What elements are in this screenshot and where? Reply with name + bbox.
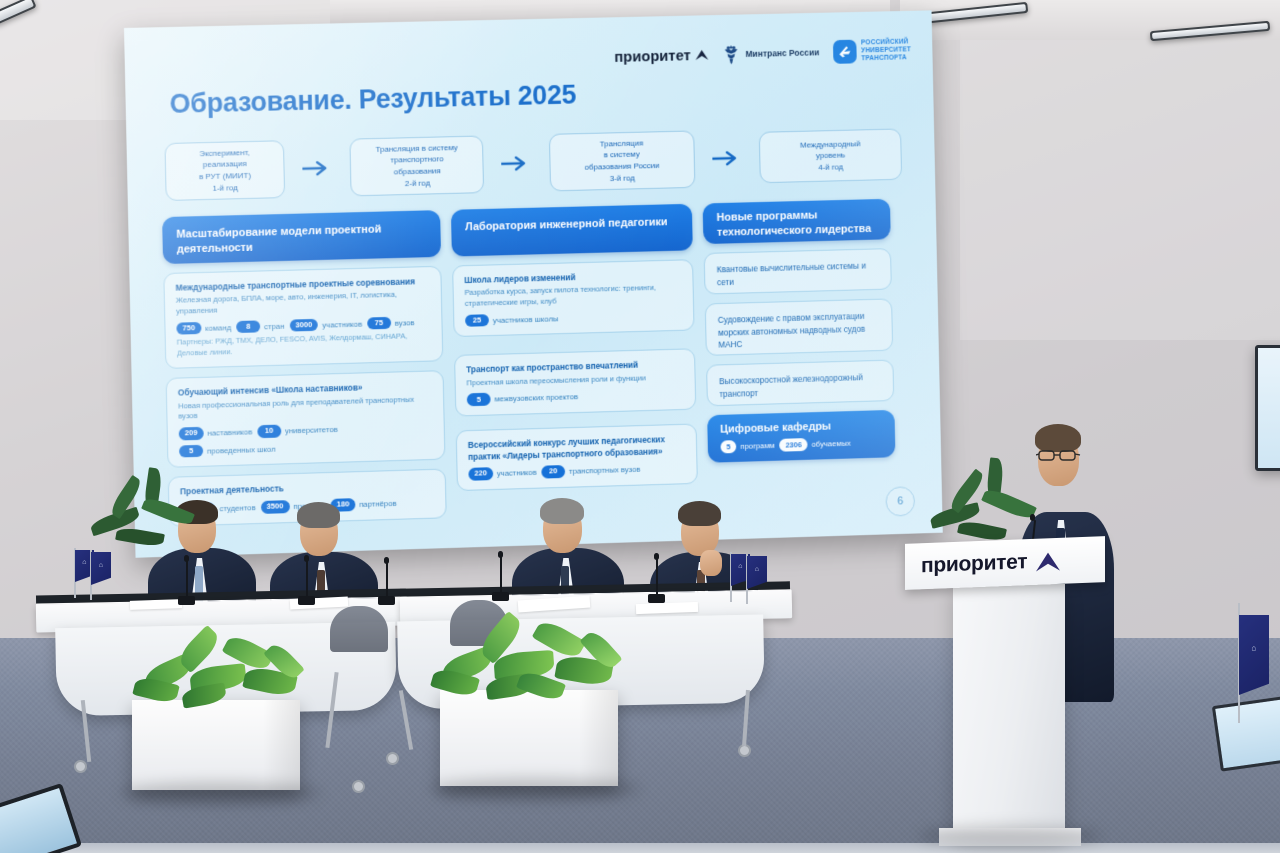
priority-logo: приоритет: [614, 46, 708, 65]
card-digital-departments: Цифровые кафедры 5 программ 2306 обучаем…: [707, 410, 895, 463]
plant-background-left: [86, 478, 206, 588]
stat-value: 5: [179, 444, 203, 458]
slide-title: Образование. Результаты 2025: [169, 80, 576, 120]
card-note: Партнеры: РЖД, ТМХ, ДЕЛО, FESCO, AVIS, Ж…: [177, 331, 432, 359]
secondary-display: [1255, 345, 1280, 471]
wall-panel: [960, 40, 1280, 340]
stat-label: участников школы: [493, 314, 559, 325]
rut-mark-icon: [833, 40, 857, 64]
chair-caster: [386, 752, 399, 765]
stat-item: 5 межвузовских проектов: [467, 391, 579, 407]
floor-edge: [0, 843, 1280, 853]
stat-value: 750: [176, 322, 201, 336]
hair: [297, 502, 340, 528]
stat-item: 220 участников: [468, 466, 536, 481]
slide-columns: Масштабирование модели проектной деятель…: [162, 198, 917, 526]
flag: ⌂: [1239, 615, 1269, 695]
card-competitions: Международные транспортные проектные сор…: [163, 266, 443, 369]
podium-body: [953, 584, 1065, 834]
card-stats: 5 программ 2306 обучаемых: [720, 436, 882, 453]
planter-center: [440, 690, 618, 786]
stat-label: команд: [205, 323, 231, 333]
stat-label: наставников: [207, 427, 252, 437]
flow-step-4: Международный уровень 4-й год: [759, 128, 902, 183]
card-stats: 209 наставников 10 университетов 5 прове…: [179, 420, 434, 458]
column-middle-header: Лаборатория инженерной педагогики: [451, 204, 693, 257]
card-title: Проектная деятельность: [180, 479, 434, 498]
slide-page-number: 6: [885, 486, 915, 516]
flow-step-2: Трансляция в систему транспортного образ…: [350, 135, 485, 196]
stat-value: 220: [468, 467, 493, 480]
stat-item: 750 команд: [176, 321, 231, 335]
podium-logo-text: приоритет: [921, 550, 1027, 578]
tablet-display: [1212, 694, 1280, 771]
stat-label: университетов: [285, 425, 338, 435]
stat-label: программ: [740, 441, 775, 451]
card-subtitle: Новая профессиональная роль для преподав…: [178, 394, 433, 422]
stat-value: 25: [465, 314, 489, 327]
stat-item: 20 транспортных вузов: [541, 463, 640, 479]
card-subtitle: Разработка курса, запуск пилота технолог…: [464, 283, 682, 310]
card-leaders-school: Школа лидеров изменений Разработка курса…: [452, 259, 694, 337]
hair: [678, 501, 721, 526]
hair: [540, 498, 584, 524]
slide-logo-row: приоритет Минт: [614, 38, 911, 69]
stat-value: 20: [541, 465, 565, 478]
stat-item: 5 проведенных школ: [179, 442, 276, 458]
document-sheet: [130, 599, 182, 610]
office-chair: [330, 606, 388, 652]
mintrans-logo: Минтранс России: [722, 42, 820, 66]
stat-item: 75 вузов: [367, 316, 415, 330]
program-item-highspeed-rail: Высокоскоростной железнодорожный транспо…: [706, 360, 894, 407]
priority-chevron-icon: [1036, 551, 1060, 571]
conference-room-photo: приоритет Минт: [0, 0, 1280, 853]
stat-item: 25 участников школы: [465, 312, 559, 327]
shadow: [920, 826, 1100, 846]
stat-value: 75: [367, 316, 391, 329]
planter-left: [132, 700, 300, 790]
flow-step-3: Трансляция в систему образования России …: [549, 130, 696, 191]
stat-item: 3000 участников: [289, 317, 362, 332]
stat-label: обучаемых: [812, 439, 851, 449]
program-item-quantum: Квантовые вычислительные системы и сети: [704, 248, 892, 294]
stat-label: участников: [497, 468, 537, 478]
stat-label: транспортных вузов: [569, 465, 640, 476]
stat-value: 8: [236, 320, 260, 333]
flow-arrow-3: [694, 150, 759, 167]
plant-center: [430, 618, 626, 704]
stat-item: 5 программ: [720, 439, 774, 453]
column-right-header: Новые программы технологического лидерст…: [703, 199, 891, 244]
shadow: [120, 782, 320, 804]
card-title: Всероссийский конкурс лучших педагогичес…: [468, 434, 686, 463]
presentation-screen: приоритет Минт: [124, 10, 943, 557]
card-stats: 5 межвузовских проектов: [467, 388, 685, 407]
card-mentors-school: Обучающий интенсив «Школа наставников» Н…: [166, 370, 446, 468]
column-left-header: Масштабирование модели проектной деятель…: [162, 210, 441, 264]
rut-logo-text: РОССИЙСКИЙ УНИВЕРСИТЕТ ТРАНСПОРТА: [861, 38, 911, 63]
priority-chevron-icon: [695, 50, 708, 60]
stat-value: 3500: [261, 500, 290, 514]
hand: [700, 550, 722, 576]
stat-value: 10: [257, 424, 281, 438]
stat-label: участников: [322, 319, 362, 329]
stat-value: 5: [467, 393, 491, 406]
stat-label: межвузовских проектов: [494, 393, 578, 404]
stat-label: вузов: [395, 318, 415, 327]
podium-front-panel: приоритет: [905, 536, 1105, 590]
stat-item: 10 университетов: [257, 423, 338, 438]
flow-step-1: Эксперимент, реализация в РУТ (МИИТ) 1-й…: [164, 140, 285, 201]
priority-logo-text: приоритет: [614, 47, 691, 66]
stat-item: 180 партнёров: [331, 497, 397, 512]
card-stats: 220 участников 20 транспортных вузов: [468, 461, 686, 480]
mintrans-logo-text: Минтранс России: [745, 47, 819, 59]
chair-caster: [74, 760, 87, 773]
eyeglasses-icon: [1036, 448, 1082, 462]
rut-line-3: ТРАНСПОРТА: [861, 54, 911, 63]
card-subtitle: Железная дорога, БПЛА, море, авто, инжен…: [176, 289, 431, 317]
plant-left: [128, 628, 308, 712]
card-title: Цифровые кафедры: [720, 419, 882, 436]
program-item-navigation: Судовождение с правом эксплуатации морск…: [705, 298, 893, 355]
stat-label: проведенных школ: [207, 444, 276, 455]
rut-logo: РОССИЙСКИЙ УНИВЕРСИТЕТ ТРАНСПОРТА: [833, 38, 912, 64]
flow-arrow-1: [284, 160, 350, 178]
stat-item: 209 наставников: [179, 425, 253, 440]
double-eagle-icon: [722, 43, 741, 65]
column-middle: Лаборатория инженерной педагогики Школа …: [451, 204, 699, 518]
stat-value: 3000: [289, 318, 318, 332]
stat-value: 5: [720, 440, 736, 453]
stat-label: студентов: [219, 503, 255, 513]
stat-item: 8 стран: [236, 319, 284, 333]
stat-value: 209: [179, 427, 204, 441]
podium-logo: приоритет: [921, 549, 1060, 578]
stat-label: партнёров: [359, 499, 397, 509]
shadow: [430, 778, 640, 800]
flow-arrow-2: [484, 155, 550, 172]
stat-value: 2306: [779, 438, 807, 452]
stat-item: 2306 обучаемых: [779, 437, 850, 452]
column-right: Новые программы технологического лидерст…: [703, 199, 897, 510]
roadmap-flow: Эксперимент, реализация в РУТ (МИИТ) 1-й…: [164, 120, 902, 207]
card-stats: 25 участников школы: [465, 309, 683, 328]
card-best-practices: Всероссийский конкурс лучших педагогичес…: [456, 424, 698, 491]
stat-label: стран: [264, 321, 285, 331]
card-transport-space: Транспорт как пространство впечатлений П…: [454, 349, 696, 417]
chair-caster: [352, 780, 365, 793]
